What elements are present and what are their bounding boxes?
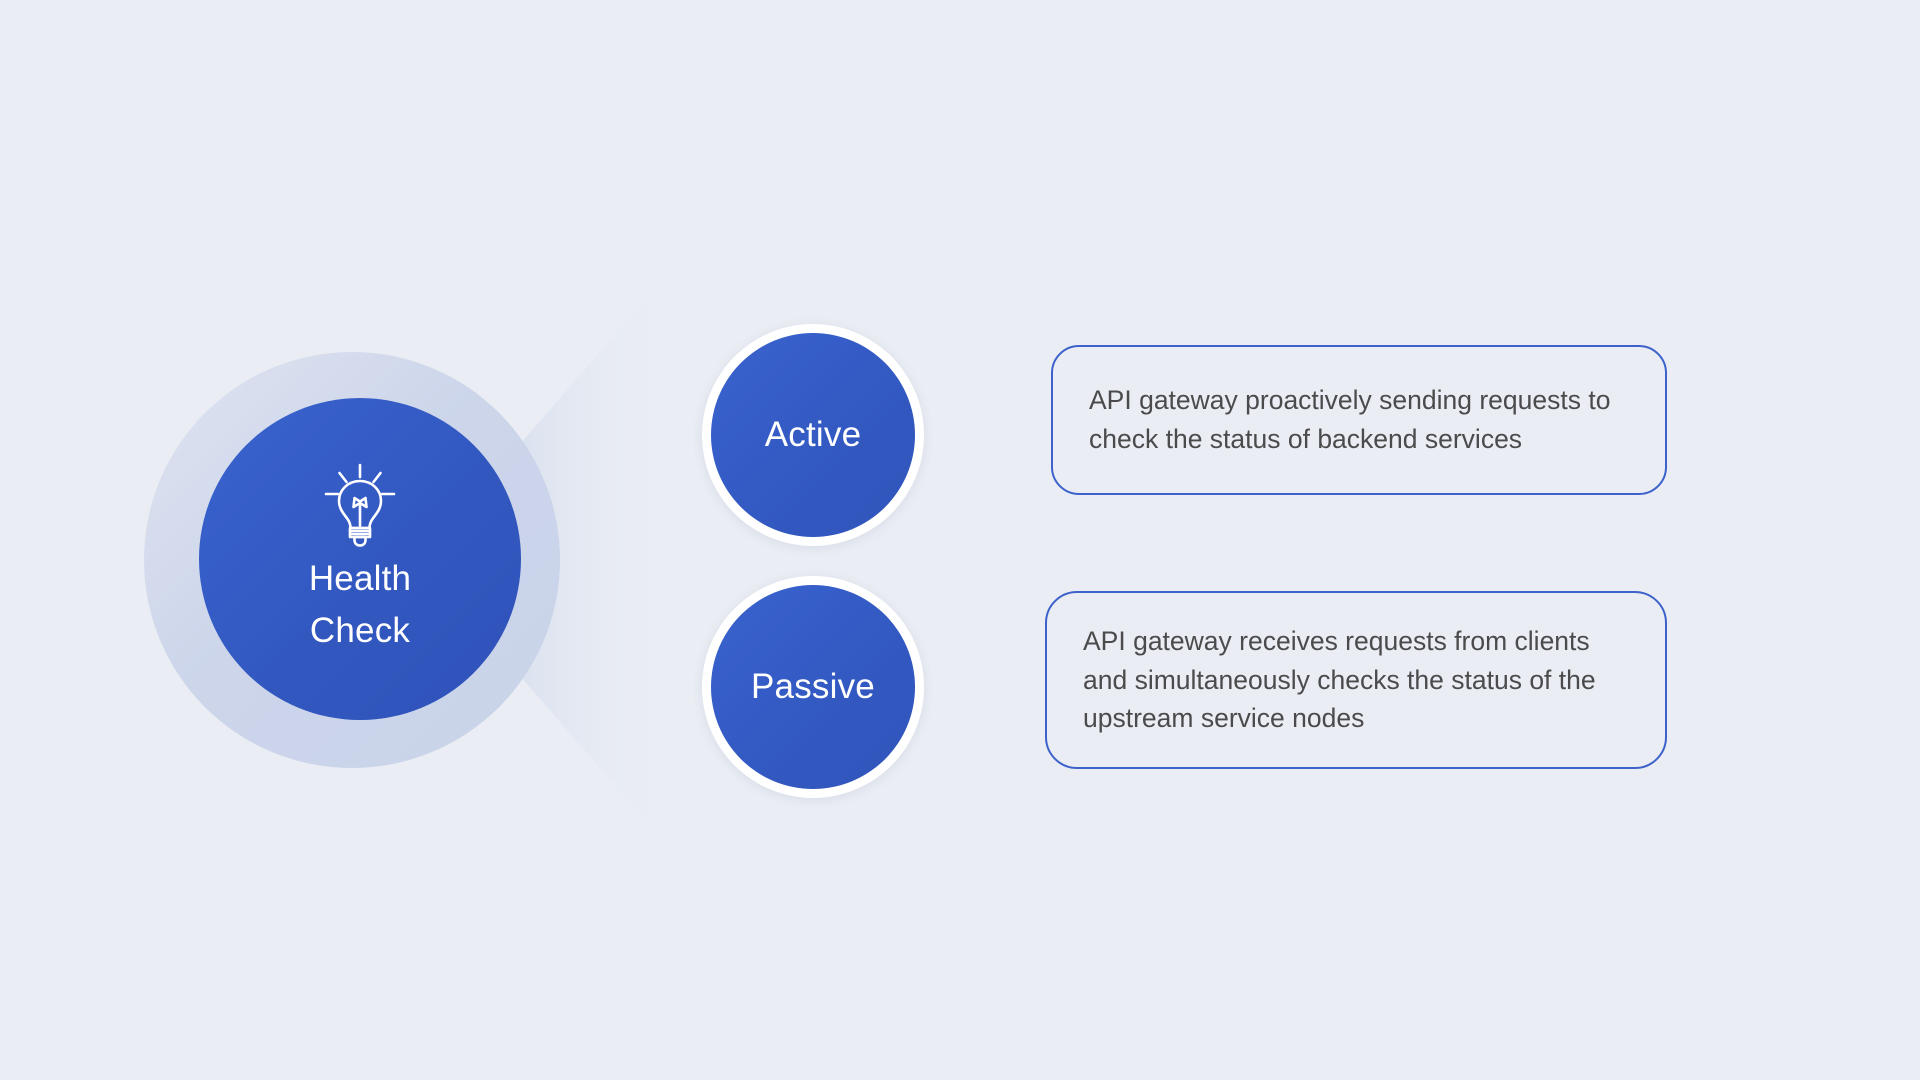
callout-active: API gateway proactively sending requests…: [1051, 345, 1667, 495]
diagram-canvas: Health Check Active Passive API gateway …: [0, 0, 1920, 1080]
callout-passive: API gateway receives requests from clien…: [1045, 591, 1667, 769]
hub-label: Health Check: [270, 553, 450, 657]
node-active-fill: Active: [711, 333, 915, 537]
node-passive[interactable]: Passive: [702, 576, 924, 798]
hub-label-line2: Check: [310, 611, 410, 650]
node-active-label: Active: [765, 415, 862, 455]
lightbulb-icon: [323, 463, 397, 547]
node-active[interactable]: Active: [702, 324, 924, 546]
hub-node-health-check[interactable]: Health Check: [199, 398, 521, 720]
node-passive-fill: Passive: [711, 585, 915, 789]
hub-label-line1: Health: [309, 559, 411, 598]
node-passive-label: Passive: [751, 667, 875, 707]
callout-passive-text: API gateway receives requests from clien…: [1083, 622, 1631, 739]
callout-active-text: API gateway proactively sending requests…: [1089, 381, 1631, 459]
